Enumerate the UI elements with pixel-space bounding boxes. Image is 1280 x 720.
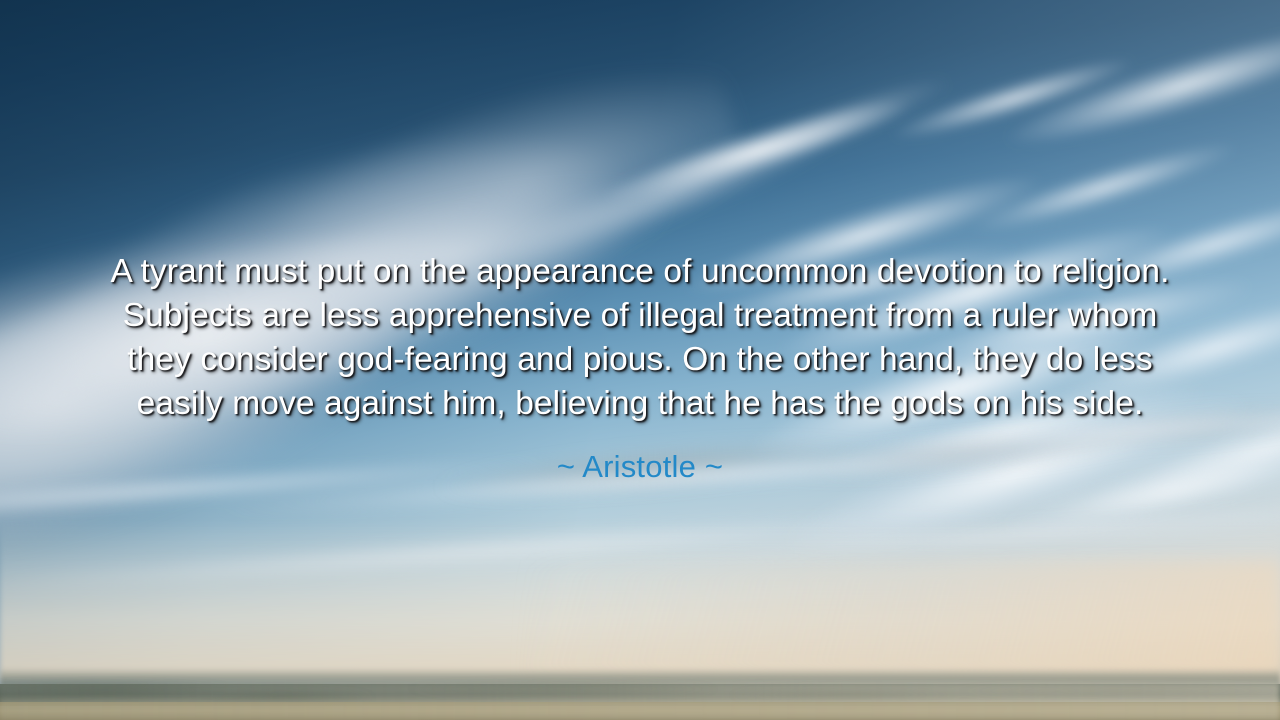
- quote-block: A tyrant must put on the appearance of u…: [0, 250, 1280, 486]
- land-band-near-haze: [0, 700, 1280, 720]
- quote-text: A tyrant must put on the appearance of u…: [108, 250, 1172, 426]
- horizon-warm-glow: [520, 560, 1280, 680]
- quote-attribution: ~ Aristotle ~: [108, 426, 1172, 486]
- quote-image-canvas: A tyrant must put on the appearance of u…: [0, 0, 1280, 720]
